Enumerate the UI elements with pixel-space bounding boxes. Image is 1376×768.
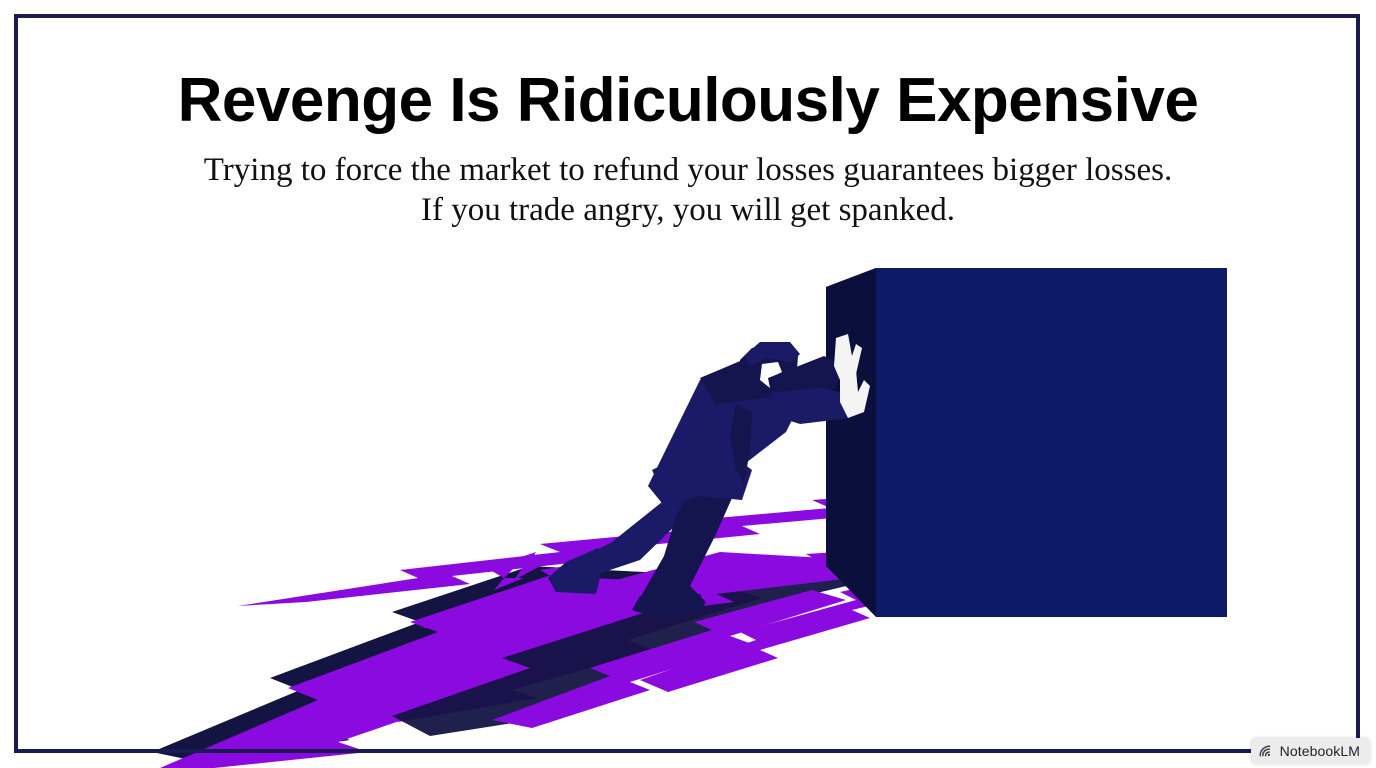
cube-side-face <box>826 268 876 617</box>
cube-front-face <box>876 268 1227 617</box>
page-subtitle: Trying to force the market to refund you… <box>0 150 1376 230</box>
notebooklm-label: NotebookLM <box>1280 743 1360 759</box>
figure-front-shoe <box>632 594 704 616</box>
notebooklm-watermark: NotebookLM <box>1251 738 1370 764</box>
notebooklm-spiral-icon <box>1258 743 1274 759</box>
subtitle-line-1: Trying to force the market to refund you… <box>0 150 1376 190</box>
page-title: Revenge Is Ridiculously Expensive <box>0 64 1376 138</box>
slide-canvas: Revenge Is Ridiculously Expensive Trying… <box>0 0 1376 768</box>
subtitle-line-2: If you trade angry, you will get spanked… <box>0 190 1376 230</box>
heavy-cube <box>826 268 1227 617</box>
